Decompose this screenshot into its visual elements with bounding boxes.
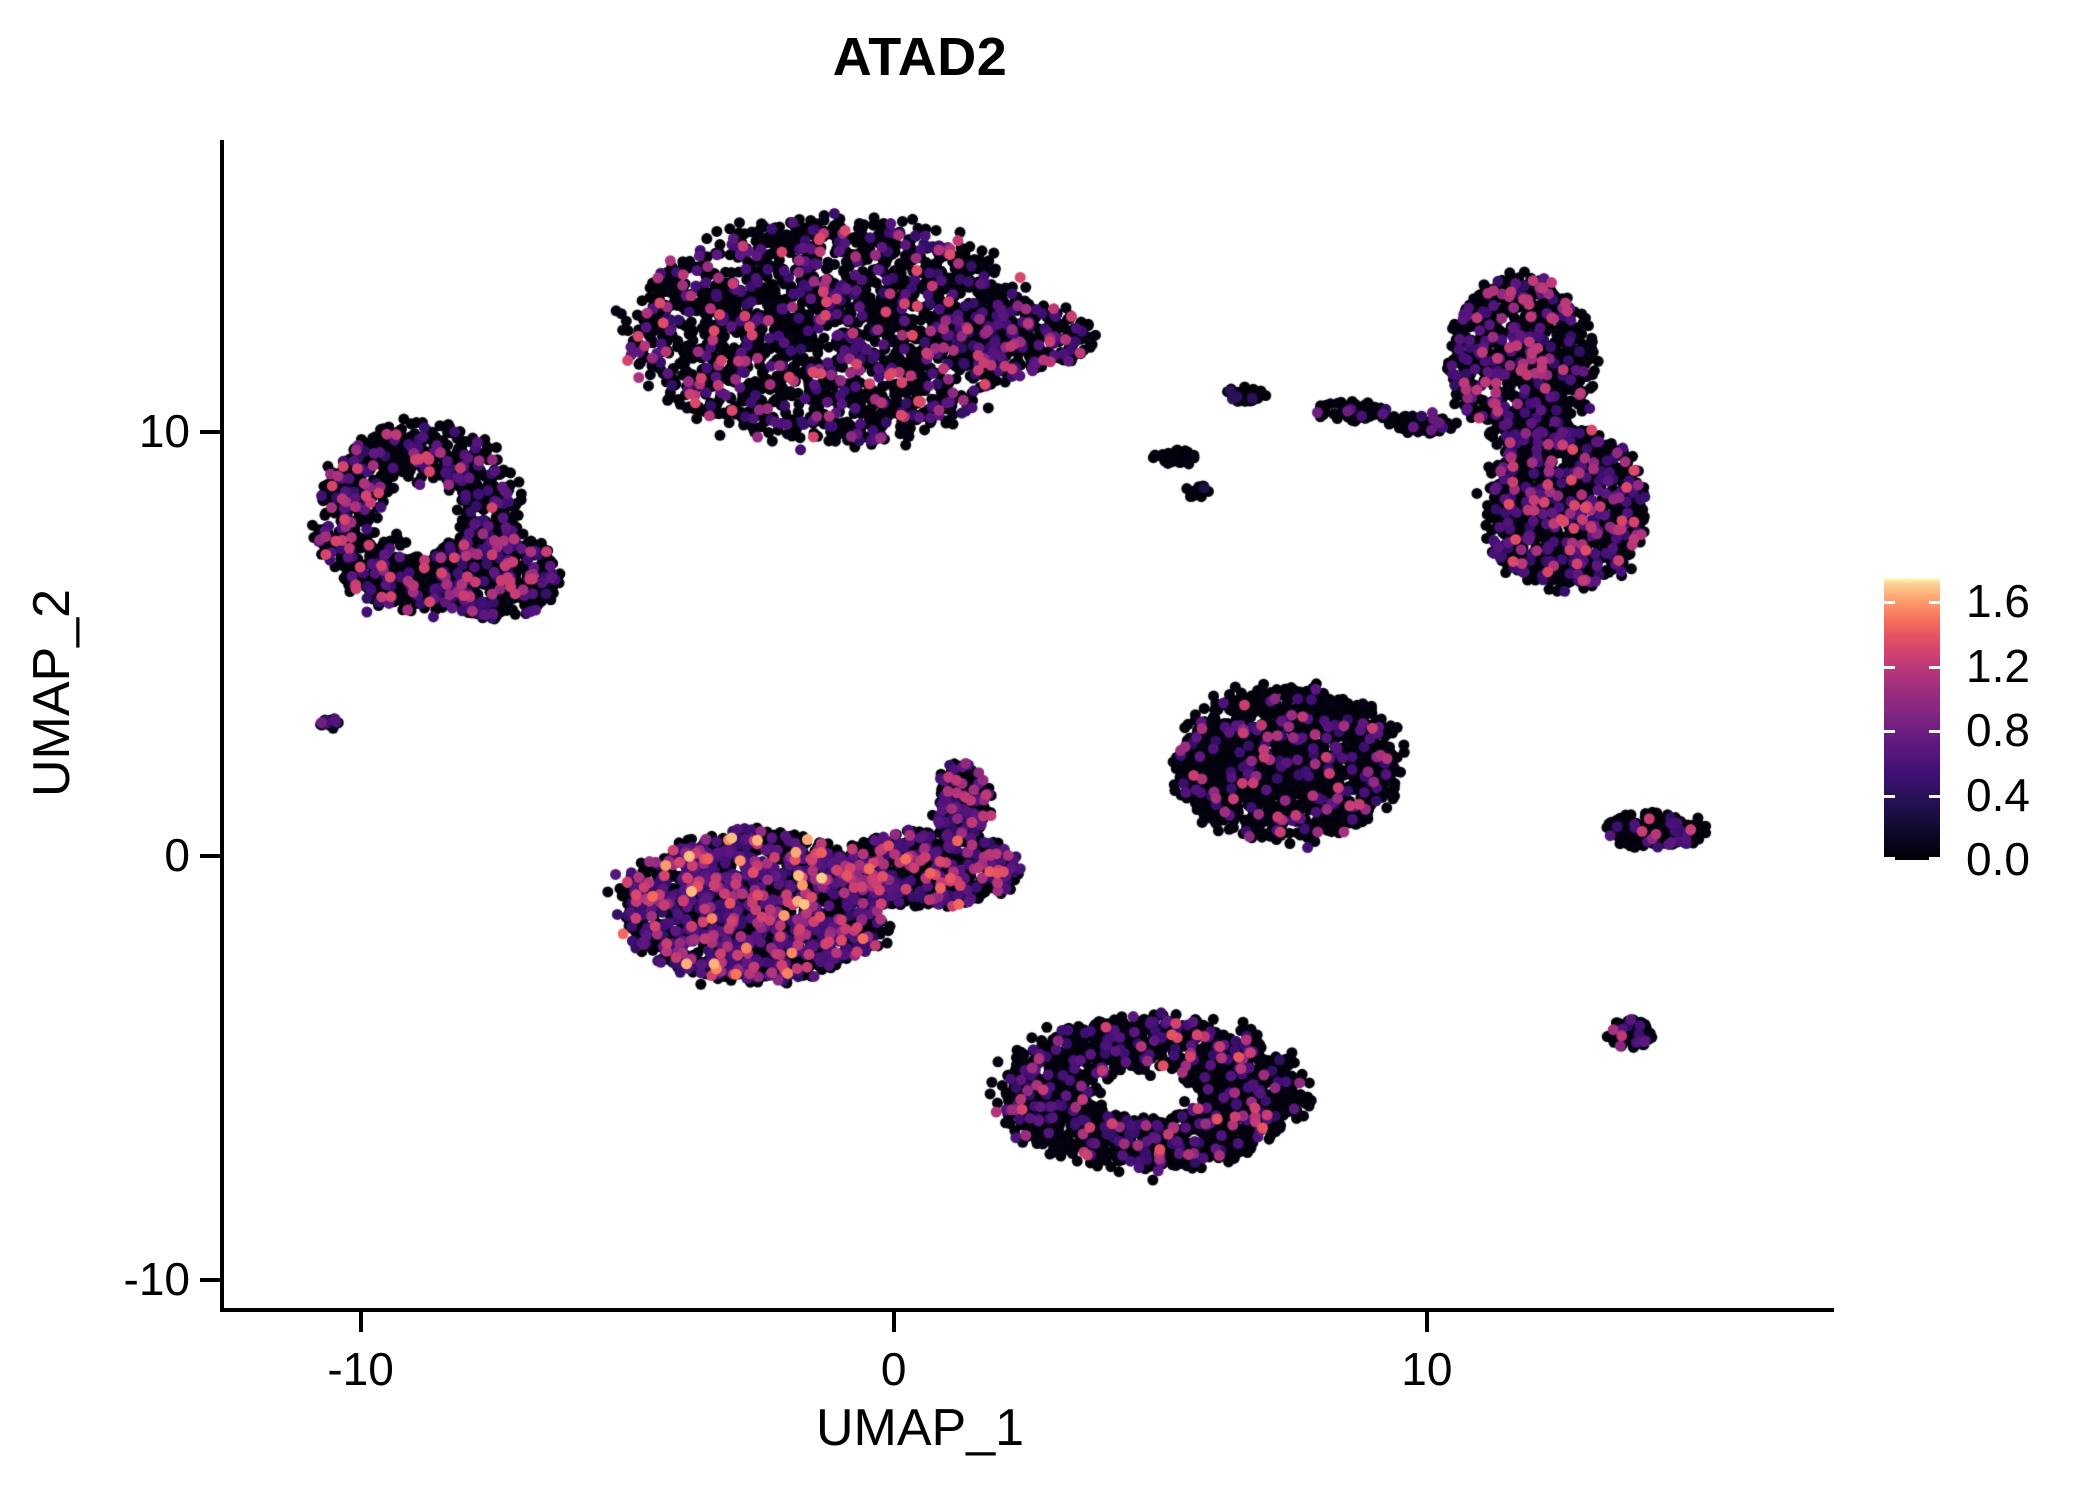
colorbar-label-1-2: 1.2 (1966, 643, 2030, 689)
x-tick-mark-10 (1425, 1310, 1429, 1332)
colorbar-tick-0-8 (1929, 730, 1940, 733)
colorbar-gradient (1884, 578, 1940, 860)
colorbar-tick-1-6 (1929, 601, 1940, 604)
x-tick-mark-neg10 (359, 1310, 363, 1332)
colorbar-tick-0-0 (1884, 857, 1895, 860)
colorbar-label-0-8: 0.8 (1966, 707, 2030, 753)
colorbar-label-0-4: 0.4 (1966, 772, 2030, 818)
x-axis-line (220, 1308, 1834, 1312)
x-tick-mark-0 (892, 1310, 896, 1332)
x-tick-label-neg10: -10 (241, 1342, 481, 1396)
colorbar-legend: 1.61.20.80.40.0 (1884, 578, 2084, 908)
y-axis-line (220, 140, 224, 1312)
colorbar-tick-1-2 (1929, 666, 1940, 669)
colorbar-tick-0-0 (1929, 857, 1940, 860)
x-axis-title: UMAP_1 (0, 1398, 1840, 1458)
x-tick-label-0: 0 (774, 1342, 1014, 1396)
colorbar-tick-0-4 (1884, 795, 1895, 798)
umap-feature-plot: ATAD2 10 0 -10 -10 0 10 UMAP_1 UMAP_2 1.… (0, 0, 2100, 1500)
scatter-canvas (222, 140, 1832, 1305)
colorbar-label-1-6: 1.6 (1966, 578, 2030, 624)
y-tick-label-neg10: -10 (124, 1252, 190, 1306)
colorbar-tick-0-8 (1884, 730, 1895, 733)
y-tick-mark-0 (200, 854, 222, 858)
colorbar-tick-0-4 (1929, 795, 1940, 798)
y-tick-mark-10 (200, 430, 222, 434)
y-tick-mark-neg10 (200, 1278, 222, 1282)
x-tick-label-10: 10 (1307, 1342, 1547, 1396)
y-tick-label-0: 0 (164, 828, 190, 882)
y-tick-label-10: 10 (139, 404, 190, 458)
y-axis-title: UMAP_2 (22, 93, 82, 1293)
scatter-panel (222, 140, 1832, 1305)
page-title: ATAD2 (0, 26, 1840, 88)
colorbar-tick-1-6 (1884, 601, 1895, 604)
colorbar-label-0-0: 0.0 (1966, 836, 2030, 882)
colorbar-tick-1-2 (1884, 666, 1895, 669)
